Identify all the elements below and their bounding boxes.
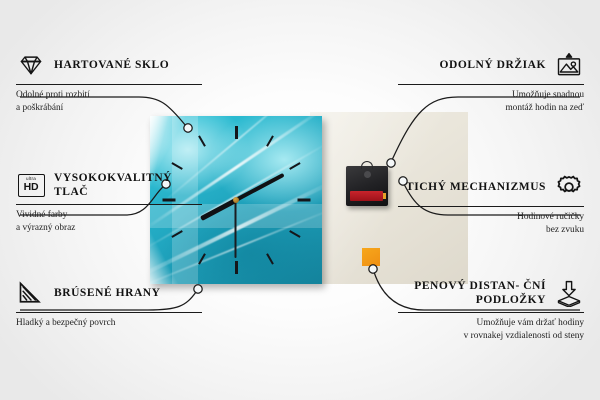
feature-header: ultra HD VYSOKOKVALITNÝ TLAČ [16,170,202,200]
clock-mechanism [346,166,388,206]
tick-2 [289,162,300,170]
tick-4 [289,230,300,238]
feature-description: Umožňuje snadnou montáž hodin na zeď [398,89,584,115]
feature-header: BRÚSENÉ HRANY [16,278,202,308]
mechanism-shaft [364,171,371,178]
feature-title: ODOLNÝ DRŽIAK [439,58,546,72]
feature-durable-holder: ODOLNÝ DRŽIAK Umožňuje snadnou montáž ho… [398,50,584,115]
feature-divider [398,84,584,85]
feature-tempered-glass: HARTOVANÉ SKLO Odolné proti rozbití a po… [16,50,202,115]
ground-edges-icon [16,278,46,308]
tick-5 [266,253,274,264]
feature-title: TICHÝ MECHANIZMUS [406,180,546,194]
feature-foam-spacers: PENOVÝ DISTAN- ČNÍ PODLOŽKY Umožňuje vám… [398,278,584,343]
tick-3 [298,199,311,202]
tick-10 [171,162,182,170]
tick-7 [198,253,206,264]
feature-header: ODOLNÝ DRŽIAK [398,50,584,80]
tick-12 [235,126,238,139]
feature-description: Odolné proti rozbití a poškrábání [16,89,202,115]
feature-title: PENOVÝ DISTAN- ČNÍ PODLOŽKY [398,279,546,307]
tick-6 [235,261,238,274]
foam-spacer-icon [554,278,584,308]
feature-title: VYSOKOKVALITNÝ TLAČ [54,171,202,199]
feature-header: PENOVÝ DISTAN- ČNÍ PODLOŽKY [398,278,584,308]
mechanism-hanger [361,161,373,169]
feature-divider [398,312,584,313]
feature-description: Hodinové ručičky bez zvuku [398,211,584,237]
feature-title: HARTOVANÉ SKLO [54,58,169,72]
feature-header: HARTOVANÉ SKLO [16,50,202,80]
tick-1 [266,135,274,146]
gear-icon [554,172,584,202]
feature-divider [16,84,202,85]
diamond-icon [16,50,46,80]
battery [350,191,383,201]
feature-divider [398,206,584,207]
wall-frame-icon [554,50,584,80]
clock-center-cap [233,197,239,203]
feature-silent-mechanism: TICHÝ MECHANIZMUS Hodinové ručičky bez z… [398,172,584,237]
feature-divider [16,312,202,313]
foam-spacer-pad [362,248,380,266]
feature-ground-edges: BRÚSENÉ HRANY Hladký a bezpečný povrch [16,278,202,330]
feature-description: Vividné farby a výrazný obraz [16,209,202,235]
feature-description: Hladký a bezpečný povrch [16,317,202,330]
ultra-hd-icon: ultra HD [16,170,46,200]
feature-divider [16,204,202,205]
feature-header: TICHÝ MECHANIZMUS [398,172,584,202]
feature-description: Umožňuje vám držať hodiny v rovnakej vzd… [398,317,584,343]
feature-high-quality-print: ultra HD VYSOKOKVALITNÝ TLAČ Vividné far… [16,170,202,235]
feature-title: BRÚSENÉ HRANY [54,286,161,300]
tick-11 [198,135,206,146]
